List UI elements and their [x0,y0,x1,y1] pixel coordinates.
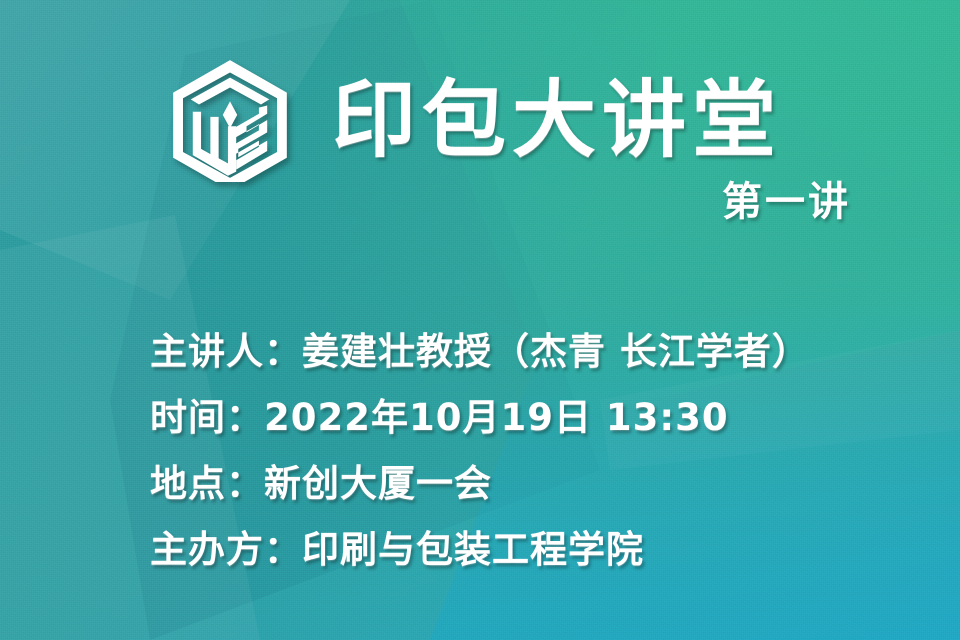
event-details: 主讲人：姜建壮教授（杰青 长江学者） 时间：2022年10月19日 13:30 … [150,333,810,568]
brand-header: 印包大讲堂 [168,58,782,182]
detail-organizer: 主办方：印刷与包装工程学院 [150,531,810,568]
poster-canvas: 印包大讲堂 第一讲 主讲人：姜建壮教授（杰青 长江学者） 时间：2022年10月… [0,0,960,640]
detail-speaker: 主讲人：姜建壮教授（杰青 长江学者） [150,333,810,370]
detail-time: 时间：2022年10月19日 13:30 [150,399,810,436]
page-title: 印包大讲堂 [332,78,782,162]
detail-location: 地点：新创大厦一会 [150,465,810,502]
poster-content: 印包大讲堂 第一讲 主讲人：姜建壮教授（杰青 长江学者） 时间：2022年10月… [0,0,960,640]
lecture-number-subtitle: 第一讲 [722,182,851,222]
hexagon-cube-logo-icon [168,58,292,182]
